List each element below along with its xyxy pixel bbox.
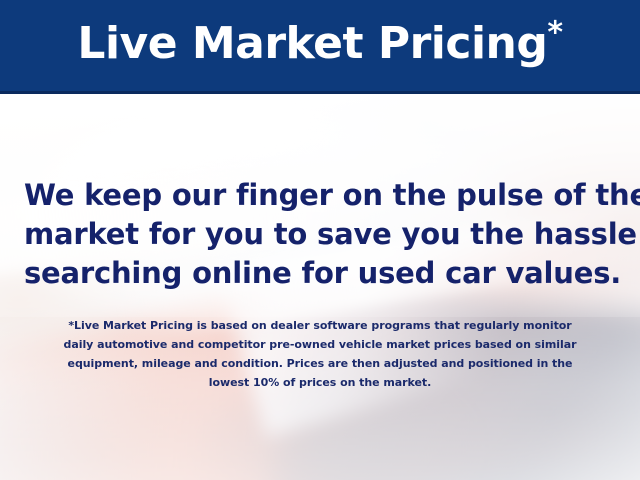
disclaimer-line-2: daily automotive and competitor pre-owne… [22, 335, 618, 354]
headline-line-2: market for you to save you the hassle of [24, 215, 616, 254]
header-banner: Live Market Pricing* [0, 0, 640, 94]
live-market-pricing-slide: Live Market Pricing* We keep our finger … [0, 0, 640, 480]
disclaimer-text: *Live Market Pricing is based on dealer … [0, 316, 640, 392]
headline-text: We keep our finger on the pulse of the m… [0, 176, 640, 293]
disclaimer-line-4: lowest 10% of prices on the market. [22, 373, 618, 392]
disclaimer-line-3: equipment, mileage and condition. Prices… [22, 354, 618, 373]
headline-line-1: We keep our finger on the pulse of the [24, 176, 616, 215]
headline-line-3: searching online for used car values. [24, 254, 616, 293]
page-title-footnote-marker: * [547, 15, 562, 50]
page-title: Live Market Pricing* [77, 22, 562, 70]
page-title-text: Live Market Pricing [77, 18, 547, 69]
disclaimer-line-1: *Live Market Pricing is based on dealer … [22, 316, 618, 335]
